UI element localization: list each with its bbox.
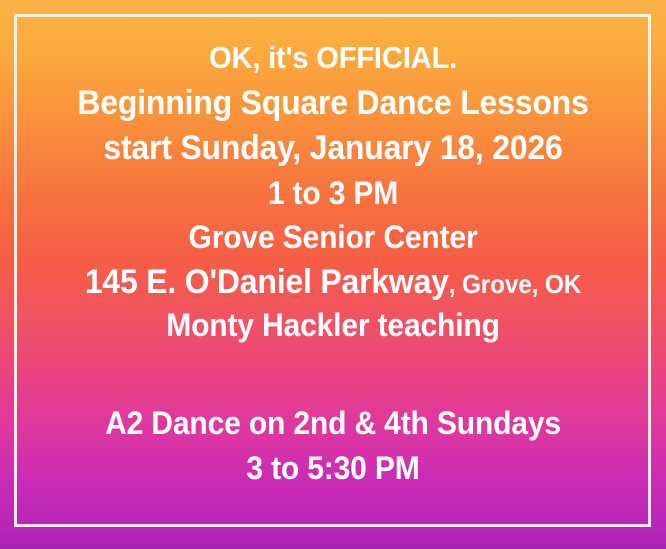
headline-text: OK, it's OFFICIAL.: [20, 42, 646, 73]
address-city-state-text: , Grove, OK: [449, 269, 581, 299]
start-date-text: start Sunday, January 18, 2026: [20, 131, 646, 165]
address-street-text: 145 E. O'Daniel Parkway: [85, 263, 449, 301]
instructor-text: Monty Hackler teaching: [20, 309, 646, 341]
square-dance-announcement-poster: OK, it's OFFICIAL. Beginning Square Danc…: [0, 0, 666, 549]
address-line: 145 E. O'Daniel Parkway, Grove, OK: [20, 265, 646, 299]
dance-schedule-text: A2 Dance on 2nd & 4th Sundays: [20, 407, 646, 439]
lesson-time-text: 1 to 3 PM: [20, 177, 646, 209]
lesson-title-text: Beginning Square Dance Lessons: [20, 86, 646, 120]
dance-time-text: 3 to 5:30 PM: [20, 452, 646, 484]
poster-text-content: OK, it's OFFICIAL. Beginning Square Danc…: [0, 0, 666, 549]
venue-name-text: Grove Senior Center: [20, 221, 646, 253]
